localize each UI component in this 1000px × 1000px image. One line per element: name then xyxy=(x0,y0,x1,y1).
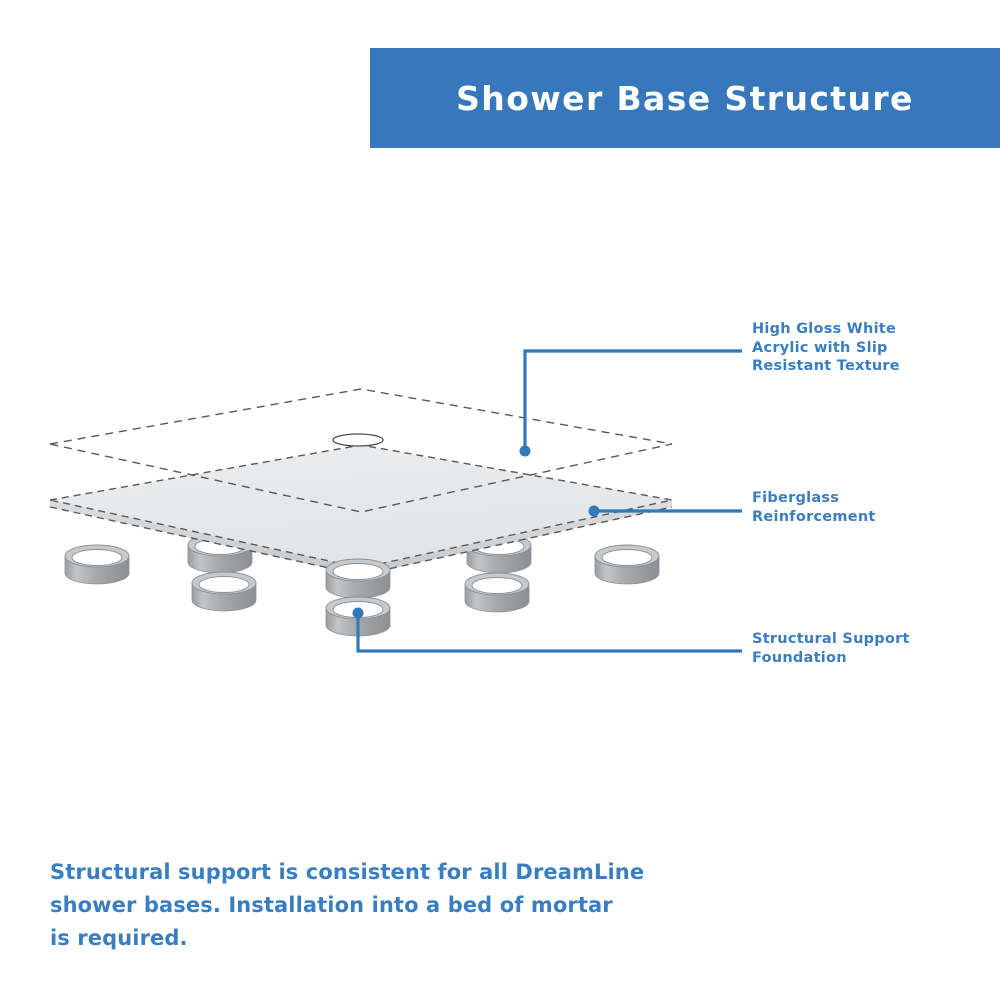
support-ring xyxy=(595,545,659,584)
leader-dot-acrylic xyxy=(520,446,531,457)
leader-dot-support xyxy=(353,608,364,619)
callout-support: Structural Support Foundation xyxy=(752,630,910,667)
callout-acrylic: High Gloss White Acrylic with Slip Resis… xyxy=(752,320,900,376)
fiberglass-layer xyxy=(50,445,672,575)
diagram-canvas: Shower Base Structure xyxy=(0,0,1000,1000)
slab-top-face xyxy=(50,445,672,568)
callout-acrylic-line-3: Resistant Texture xyxy=(752,357,900,376)
callout-support-line-1: Structural Support xyxy=(752,630,910,649)
caption-line-2: shower bases. Installation into a bed of… xyxy=(50,889,710,922)
callout-fiberglass-line-1: Fiberglass xyxy=(752,489,876,508)
caption-line-3: is required. xyxy=(50,922,710,955)
caption-line-1: Structural support is consistent for all… xyxy=(50,856,710,889)
support-ring xyxy=(192,572,256,611)
support-ring xyxy=(65,545,129,584)
leader-line-acrylic xyxy=(525,351,742,451)
callout-acrylic-line-1: High Gloss White xyxy=(752,320,900,339)
leader-line-support xyxy=(358,613,742,651)
footer-caption: Structural support is consistent for all… xyxy=(50,856,710,955)
callout-acrylic-line-2: Acrylic with Slip xyxy=(752,339,900,358)
support-ring xyxy=(326,559,390,598)
callout-support-line-2: Foundation xyxy=(752,649,910,668)
callout-fiberglass-line-2: Reinforcement xyxy=(752,508,876,527)
support-ring xyxy=(465,573,529,612)
callout-fiberglass: Fiberglass Reinforcement xyxy=(752,489,876,526)
leader-dot-fiberglass xyxy=(589,506,600,517)
drain-icon xyxy=(333,434,383,446)
